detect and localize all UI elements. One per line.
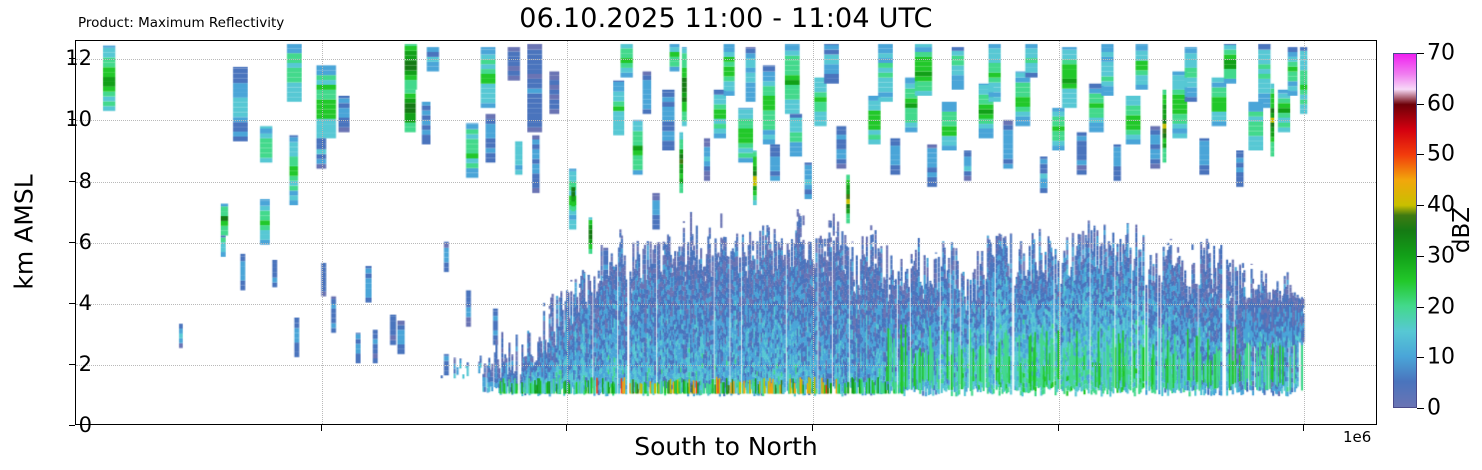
colorbar[interactable] — [1393, 53, 1417, 408]
x-tick-mark — [1058, 425, 1059, 431]
colorbar-tick-mark — [1417, 205, 1424, 206]
colorbar-tick-mark — [1417, 408, 1424, 409]
y-tick-mark — [69, 181, 75, 182]
y-tick-mark — [69, 364, 75, 365]
colorbar-tick-mark — [1417, 104, 1424, 105]
x-tick-mark — [321, 425, 322, 431]
colorbar-tick-label: 50 — [1427, 142, 1455, 167]
y-tick-label: 6 — [32, 230, 92, 254]
colorbar-tick-mark — [1417, 357, 1424, 358]
y-tick-mark — [69, 242, 75, 243]
y-tick-mark — [69, 303, 75, 304]
colorbar-gradient — [1393, 53, 1417, 408]
colorbar-tick-label: 0 — [1427, 396, 1441, 421]
colorbar-tick-label: 70 — [1427, 41, 1455, 66]
page-title: 06.10.2025 11:00 - 11:04 UTC — [75, 4, 1377, 34]
colorbar-tick-label: 10 — [1427, 345, 1455, 370]
x-axis-label: South to North — [75, 432, 1377, 461]
y-tick-label: 8 — [32, 169, 92, 193]
x-tick-mark — [1303, 425, 1304, 431]
x-tick-mark — [812, 425, 813, 431]
y-tick-mark — [69, 119, 75, 120]
colorbar-tick-mark — [1417, 256, 1424, 257]
colorbar-tick-label: 60 — [1427, 91, 1455, 116]
colorbar-tick-label: 20 — [1427, 294, 1455, 319]
colorbar-tick-mark — [1417, 53, 1424, 54]
y-tick-mark — [69, 58, 75, 59]
y-tick-label: 12 — [32, 46, 92, 70]
colorbar-axis-label: dBZ — [1449, 207, 1475, 253]
x-axis-exponent-label: 1e6 — [1343, 428, 1371, 446]
radar-cross-section-figure: Product: Maximum Reflectivity 06.10.2025… — [0, 0, 1482, 470]
x-tick-mark — [566, 425, 567, 431]
y-tick-label: 4 — [32, 291, 92, 315]
colorbar-tick-mark — [1417, 154, 1424, 155]
y-tick-mark — [69, 425, 75, 426]
plot-area[interactable] — [75, 40, 1377, 425]
y-tick-label: 10 — [32, 107, 92, 131]
reflectivity-heatmap — [76, 41, 1376, 424]
colorbar-tick-mark — [1417, 307, 1424, 308]
y-tick-label: 2 — [32, 352, 92, 376]
